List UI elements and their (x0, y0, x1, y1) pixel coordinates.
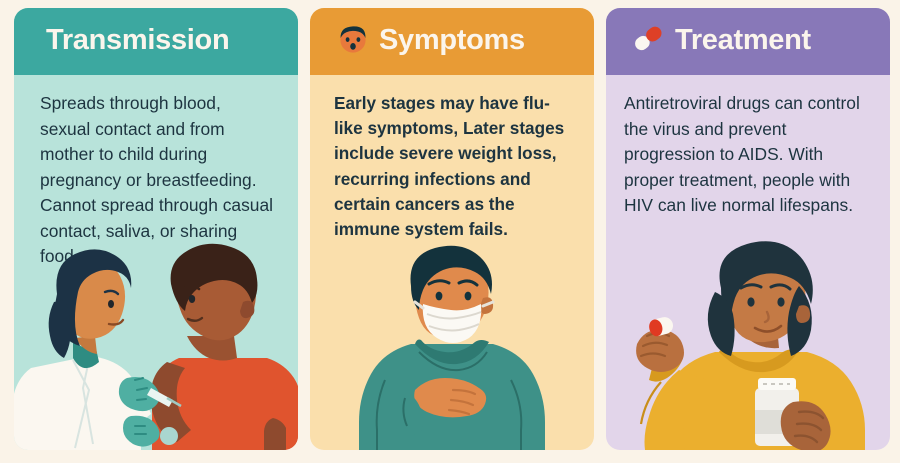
card-text-treatment: Antiretroviral drugs can control the vir… (624, 91, 872, 219)
card-treatment: Treatment Antiretroviral drugs can contr… (606, 8, 890, 450)
illustration-masked-man-holding-chest (310, 240, 594, 450)
illustration-doctor-drawing-blood (14, 240, 298, 450)
card-transmission: Transmission Spreads through blood, sexu… (14, 8, 298, 450)
card-header-transmission: Transmission (14, 8, 298, 75)
card-header-symptoms: Symptoms (310, 8, 594, 75)
card-body-symptoms: Early stages may have flu-like symptoms,… (310, 75, 594, 242)
card-title-symptoms: Symptoms (379, 26, 525, 55)
face-with-open-mouth-icon (336, 21, 370, 60)
card-body-treatment: Antiretroviral drugs can control the vir… (606, 75, 890, 219)
capsule-pill-icon (630, 20, 666, 61)
card-header-treatment: Treatment (606, 8, 890, 75)
illustration-woman-holding-pill-and-bottle (606, 240, 890, 450)
card-title-transmission: Transmission (46, 26, 229, 55)
infographic-board: Transmission Spreads through blood, sexu… (0, 0, 900, 463)
card-title-treatment: Treatment (675, 26, 811, 55)
card-symptoms: Symptoms Early stages may have flu-like … (310, 8, 594, 450)
card-text-symptoms: Early stages may have flu-like symptoms,… (334, 91, 574, 242)
